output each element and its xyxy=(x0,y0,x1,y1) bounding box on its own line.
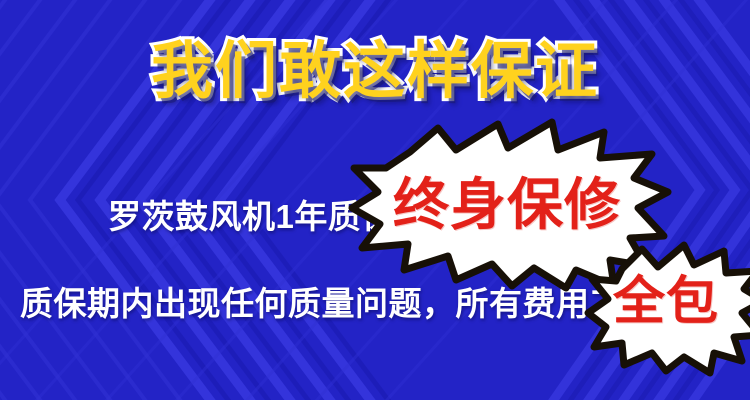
promo-banner: 我们敢这样保证 罗茨鼓风机1年质保， 质保期内出现任何质量问题，所有费用工厂 终… xyxy=(0,0,750,400)
starburst-label-all-inclusive: 全包 xyxy=(613,275,719,329)
warranty-line-2: 质保期内出现任何质量问题，所有费用工厂 xyxy=(20,285,657,323)
starburst-label-lifetime-warranty: 终身保修 xyxy=(393,176,621,234)
page-title: 我们敢这样保证 xyxy=(0,34,750,110)
